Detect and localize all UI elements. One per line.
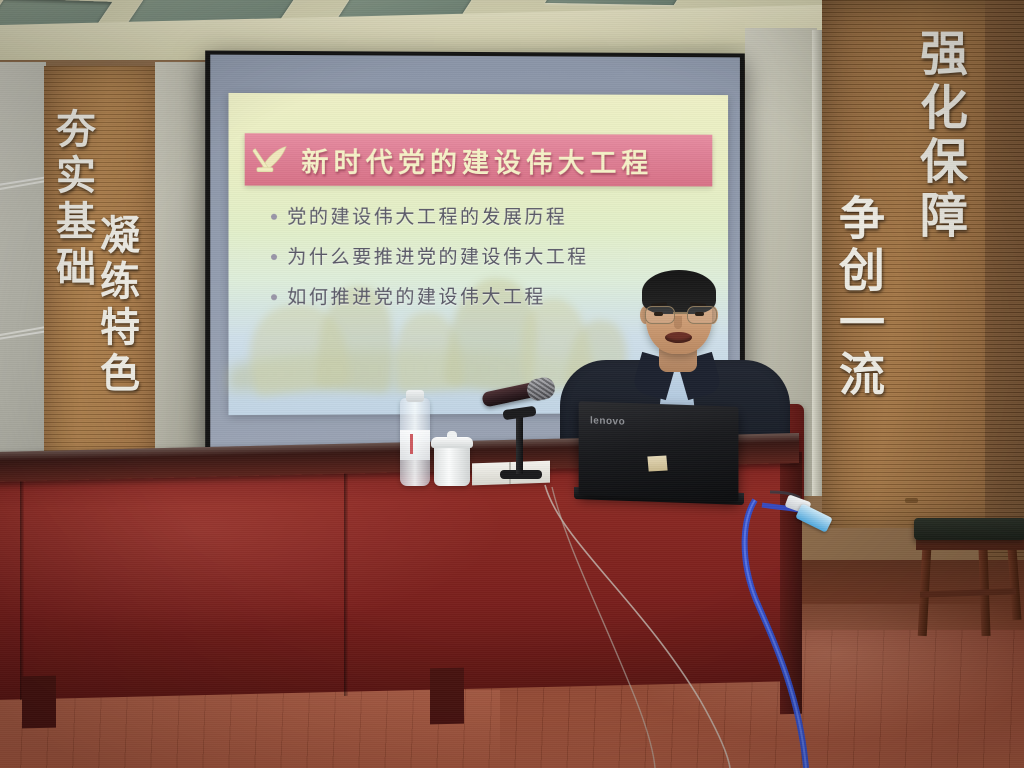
desk-panel-seam: [344, 468, 348, 696]
wall-panel-wood-far-right: [985, 0, 1024, 560]
eye-left: [654, 312, 663, 316]
laptop-sticker: [647, 456, 667, 472]
chair-rail: [920, 588, 1016, 597]
left-wall-slogan-2: 凝练特色: [96, 214, 136, 398]
slide-bullet-text: 党的建设伟大工程的发展历程: [287, 202, 567, 229]
bullet-dot-icon: [271, 294, 277, 300]
desk-panel-seam: [20, 472, 24, 700]
bullet-dot-icon: [271, 214, 277, 220]
nose: [674, 316, 682, 329]
slide-bullet-item: 党的建设伟大工程的发展历程: [271, 202, 700, 229]
wall-panel-gray-left: [0, 62, 46, 482]
slide-bullet-text: 为什么要推进党的建设伟大工程: [287, 242, 588, 269]
desk-right-side: [780, 452, 802, 714]
wall-blemish: [905, 498, 918, 503]
tea-cup: [434, 444, 470, 486]
mouth: [665, 332, 692, 343]
water-bottle-cap: [406, 390, 424, 402]
water-bottle-label: [400, 430, 430, 460]
left-wall-slogan-1: 夯实基础: [52, 108, 92, 292]
microphone-stem: [516, 412, 523, 474]
right-wall-slogan-2: 争创一流: [836, 194, 882, 402]
tea-cup-knob: [447, 431, 457, 439]
slide-title: 新时代党的建设伟大工程: [301, 140, 653, 180]
slide-bullet-text: 如何推进党的建设伟大工程: [287, 282, 546, 309]
floor-reflection-left: [0, 690, 500, 768]
slide-title-band: 新时代党的建设伟大工程: [245, 133, 713, 186]
bullet-dot-icon: [271, 254, 277, 260]
slide-bullet-item: 为什么要推进党的建设伟大工程: [271, 242, 700, 269]
lecture-hall-photo: 夯实基础 凝练特色 强化保障 争创一流: [0, 0, 1024, 768]
desk-foot: [22, 676, 56, 729]
chair-leg: [1007, 548, 1021, 620]
desk-foot: [430, 668, 464, 725]
water-bottle-label-mark: [410, 434, 413, 454]
hammer-and-sickle-icon: [253, 139, 293, 179]
right-wall-slogan-1: 强化保障: [915, 28, 963, 244]
wooden-chair: [906, 518, 1024, 658]
eye-right: [695, 312, 704, 316]
laptop-brand-logo: lenovo: [590, 415, 625, 427]
chair-seat: [914, 518, 1024, 540]
